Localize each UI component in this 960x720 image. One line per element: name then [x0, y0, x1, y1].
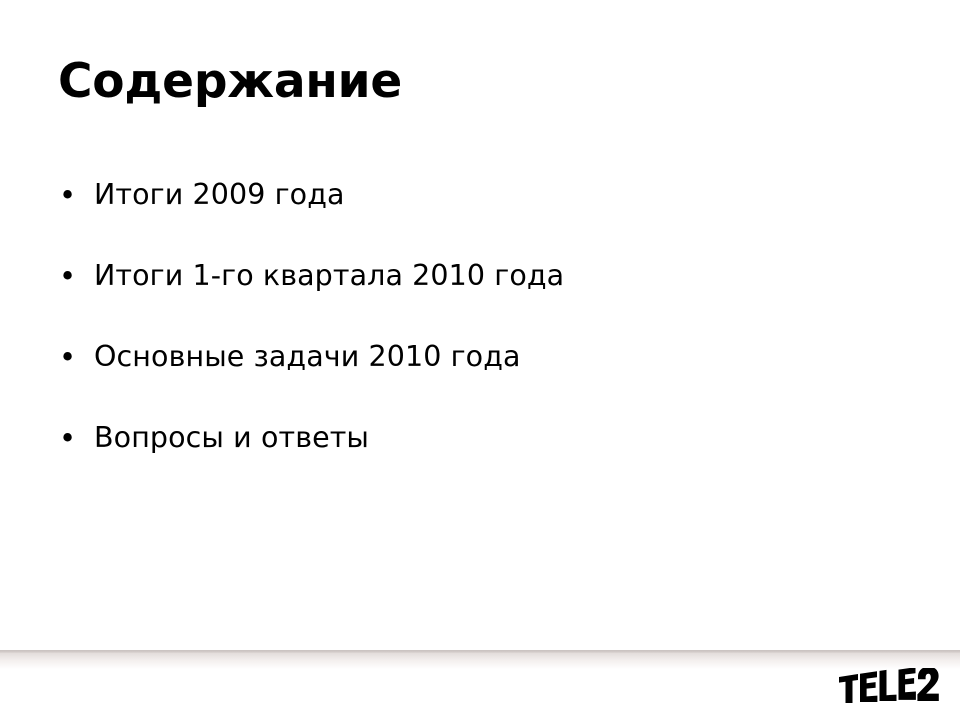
tele2-logo-icon: [836, 668, 940, 710]
agenda-bullet-list: • Итоги 2009 года • Итоги 1-го квартала …: [58, 178, 908, 502]
footer-gradient-band: [0, 653, 960, 669]
list-item-label: Вопросы и ответы: [94, 421, 908, 455]
list-item-label: Основные задачи 2010 года: [94, 340, 908, 374]
list-item-label: Итоги 1-го квартала 2010 года: [94, 259, 908, 293]
list-item: • Итоги 2009 года: [58, 178, 908, 259]
page-title: Содержание: [58, 57, 402, 106]
presentation-slide: Содержание • Итоги 2009 года • Итоги 1-г…: [0, 0, 960, 720]
list-item: • Основные задачи 2010 года: [58, 340, 908, 421]
list-item: • Итоги 1-го квартала 2010 года: [58, 259, 908, 340]
bullet-point-icon: •: [58, 421, 94, 455]
list-item: • Вопросы и ответы: [58, 421, 908, 502]
list-item-label: Итоги 2009 года: [94, 178, 908, 212]
bullet-point-icon: •: [58, 259, 94, 293]
tele2-logo: [836, 668, 940, 710]
bullet-point-icon: •: [58, 178, 94, 212]
bullet-point-icon: •: [58, 340, 94, 374]
